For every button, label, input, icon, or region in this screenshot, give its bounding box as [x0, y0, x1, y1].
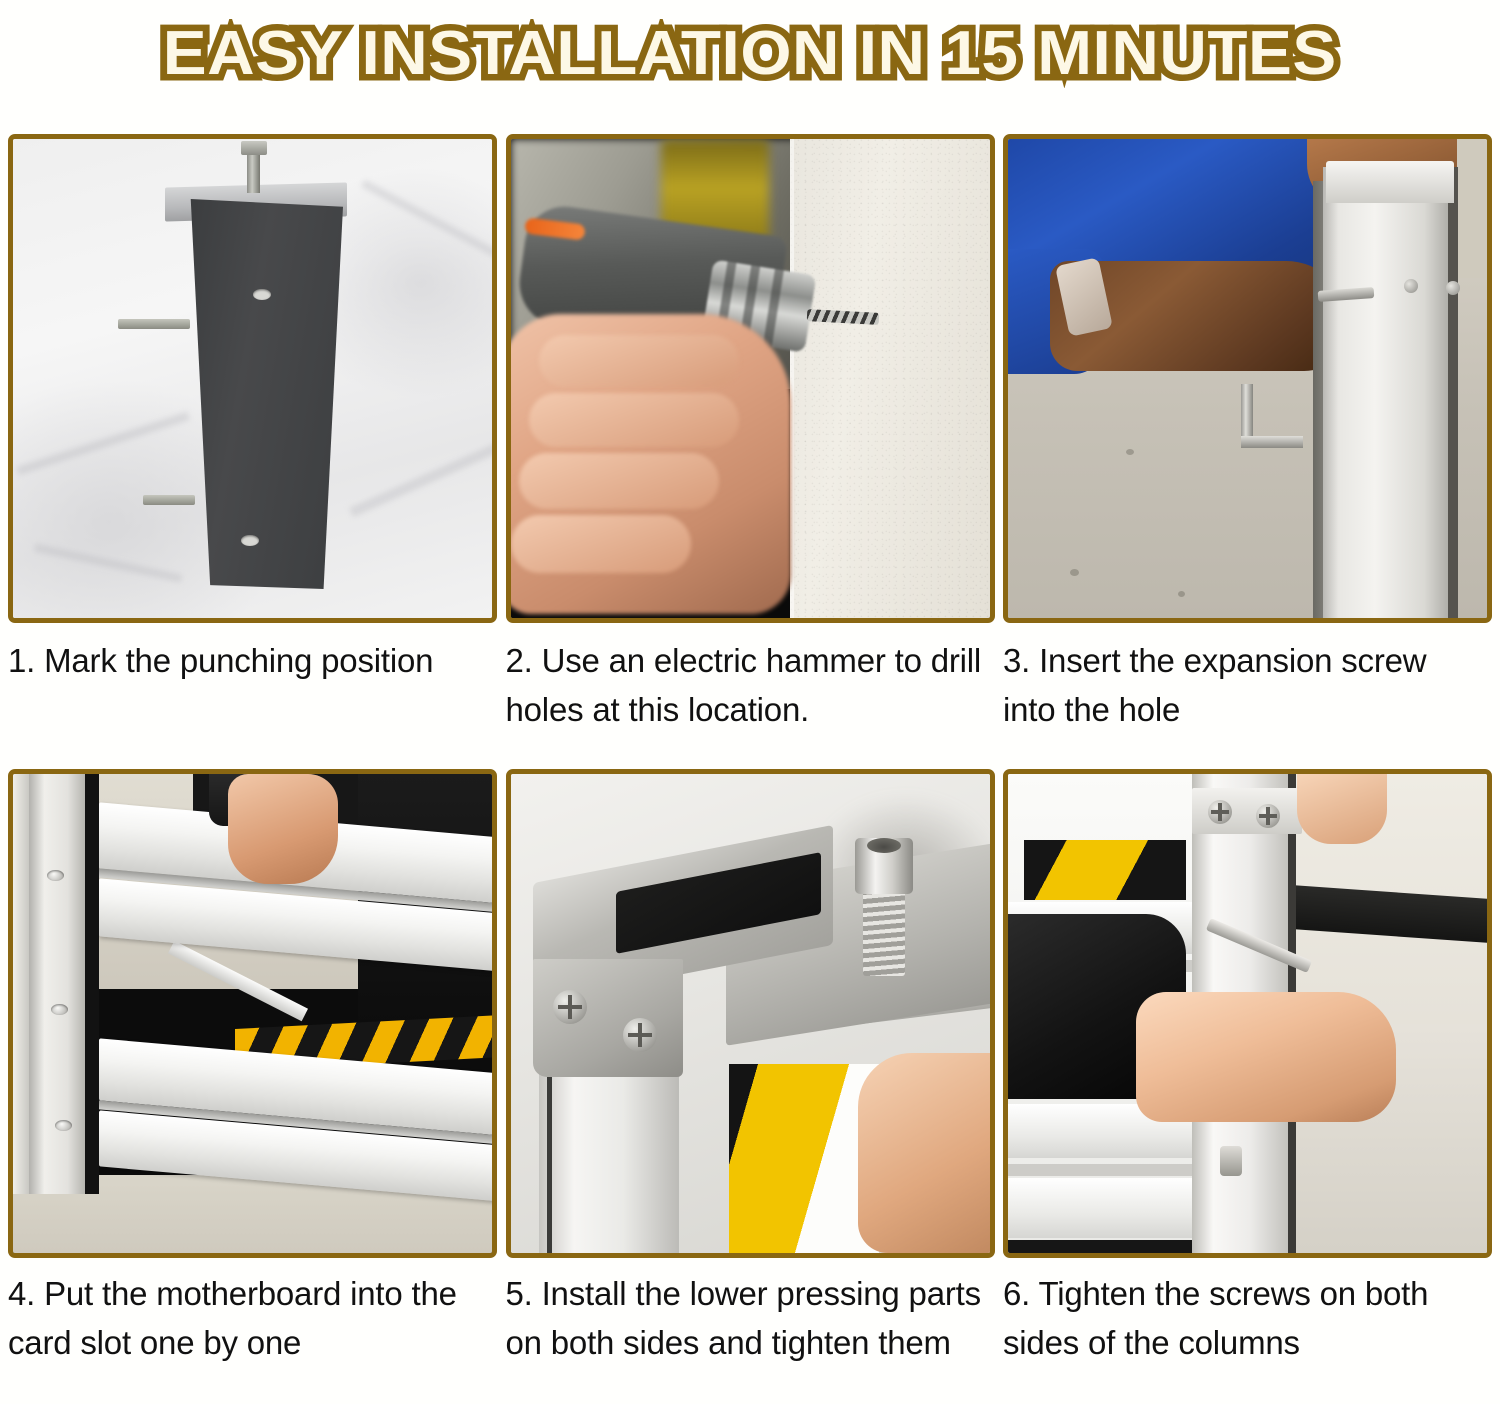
hand-placing-board [228, 774, 338, 884]
photo-install-lower-pressing-parts [506, 769, 995, 1258]
step-3-photo-cell [1003, 134, 1492, 623]
floor-speck [1070, 569, 1079, 576]
finger [858, 1053, 990, 1253]
allen-key-foot [1241, 436, 1303, 448]
grid-gap [995, 769, 1001, 1258]
rod-head [241, 141, 267, 155]
punch-hole-upper [253, 289, 271, 300]
chuck-ring [762, 269, 783, 347]
grid-gap [995, 1258, 1001, 1404]
lower-screw [1220, 1146, 1242, 1176]
hazard-stripe [729, 1064, 879, 1253]
wall-texture [790, 139, 990, 618]
barrier-board [1008, 1178, 1192, 1238]
column-screw-hole [51, 1004, 68, 1015]
column-with-card-slot [27, 774, 85, 1194]
phillips-screw [1256, 804, 1280, 828]
step-4-photo-cell [8, 769, 497, 1258]
board-groove [1008, 1164, 1192, 1176]
lower-stud [143, 495, 195, 505]
bracket-front-face [533, 959, 683, 1077]
grid-gap [497, 769, 503, 1258]
photo-insert-expansion-screw [1003, 134, 1492, 623]
photo-tighten-screws [1003, 769, 1492, 1258]
step-5-photo-cell [506, 769, 995, 1258]
floor-speck [1178, 591, 1185, 597]
upper-stud [118, 319, 190, 329]
step-1-caption: 1. Mark the punching position [8, 623, 497, 769]
page-title: EASY INSTALLATION IN 15 MINUTES [163, 21, 1337, 87]
grid-gap [497, 623, 503, 769]
steps-grid: 1. Mark the punching position 2. Use an … [8, 134, 1492, 1404]
step-4-caption: 4. Put the motherboard into the card slo… [8, 1258, 497, 1404]
column-screw [1446, 281, 1460, 295]
finger [529, 393, 739, 447]
phillips-screw [1208, 800, 1232, 824]
step-5-caption: 5. Install the lower pressing parts on b… [506, 1258, 995, 1404]
step-2-photo-cell [506, 134, 995, 623]
finger [539, 335, 739, 387]
page-title-bar: EASY INSTALLATION IN 15 MINUTES [0, 0, 1500, 108]
column-top [1326, 161, 1454, 203]
bolt-threaded-shaft [863, 886, 905, 976]
photo-insert-boards-card-slot [8, 769, 497, 1258]
phillips-screw [623, 1018, 657, 1052]
step-1-photo-cell [8, 134, 497, 623]
step-2-caption: 2. Use an electric hammer to drill holes… [506, 623, 995, 769]
step-6-caption: 6. Tighten the screws on both sides of t… [1003, 1258, 1492, 1404]
column-screw-hole [47, 870, 64, 881]
step-3-caption: 3. Insert the expansion screw into the h… [1003, 623, 1492, 769]
photo-mark-punching-position [8, 134, 497, 623]
column-right-edge [1448, 167, 1458, 618]
grid-gap [497, 1258, 503, 1404]
grid-gap [497, 134, 503, 623]
column-screw-hole [55, 1120, 72, 1131]
hazard-stripe [1024, 840, 1186, 900]
finger [519, 453, 719, 509]
hand-tightening-screw [1136, 992, 1396, 1122]
column-screw [1404, 279, 1418, 293]
installation-guide-page: EASY INSTALLATION IN 15 MINUTES [0, 0, 1500, 1403]
bolt-hex-socket [867, 838, 901, 853]
phillips-screw [553, 990, 587, 1024]
finger [511, 515, 691, 573]
grid-gap [995, 623, 1001, 769]
panel-base-shadow [1008, 1240, 1192, 1253]
column-slot-shadow [85, 774, 99, 1194]
floor-speck [1126, 449, 1134, 455]
white-wall [790, 139, 990, 618]
white-column [1323, 167, 1453, 618]
photo-drill-holes [506, 134, 995, 623]
grid-gap [995, 134, 1001, 623]
punch-hole-lower [241, 535, 259, 546]
step-6-photo-cell [1003, 769, 1492, 1258]
upper-hand [1297, 774, 1387, 844]
column-edge [13, 774, 29, 1194]
